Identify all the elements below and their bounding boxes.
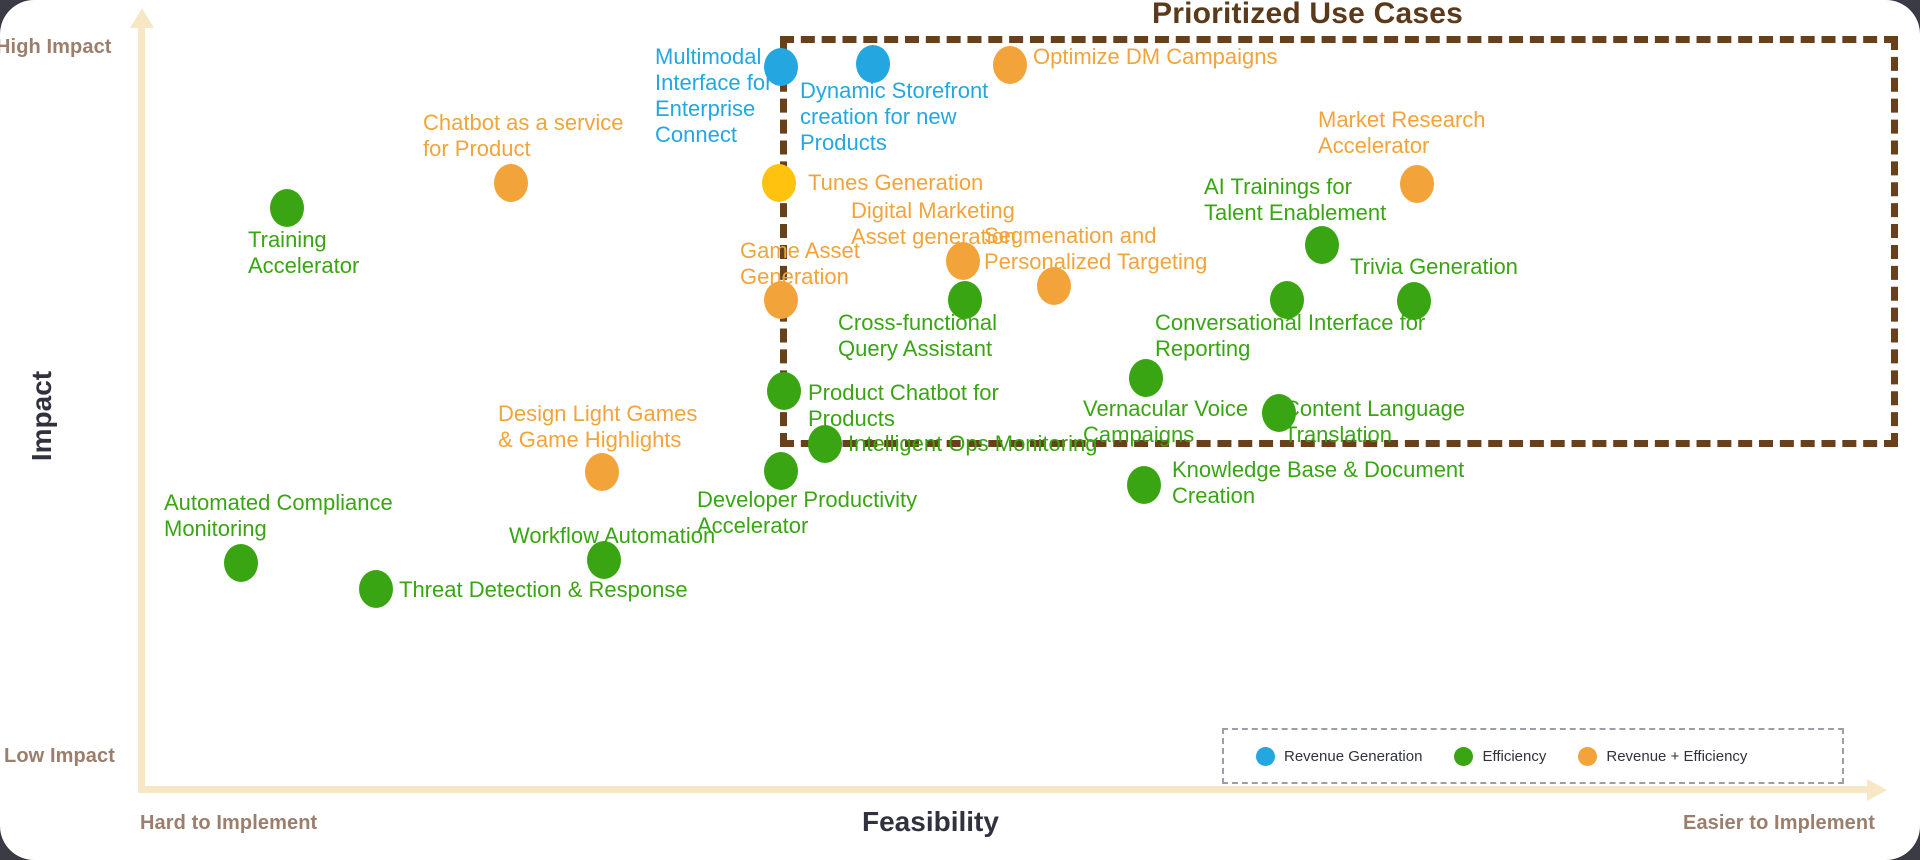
y-axis-low-label: Low Impact	[4, 745, 115, 768]
data-point-label: Dynamic Storefront creation for new Prod…	[800, 78, 988, 156]
legend-swatch-icon	[1454, 747, 1473, 766]
data-point-marker[interactable]	[1400, 165, 1434, 203]
data-point-label: Multimodal Interface for Enterprise Conn…	[655, 44, 772, 148]
data-point-marker[interactable]	[1305, 226, 1339, 264]
x-axis-low-label: Hard to Implement	[140, 812, 317, 835]
data-point-label: Segmenation and Personalized Targeting	[984, 223, 1207, 275]
legend-item[interactable]: Revenue Generation	[1256, 747, 1422, 766]
data-point-label: Tunes Generation	[808, 170, 983, 196]
data-point-label: Game Asset Generation	[740, 238, 860, 290]
data-point-label: Trivia Generation	[1350, 254, 1518, 280]
chart-title: Prioritized Use Cases	[1152, 0, 1463, 31]
data-point-label: Threat Detection & Response	[399, 577, 688, 603]
data-point-label: Intelligent Ops Monitoring	[848, 431, 1097, 457]
scatter-plot: High Impact Low Impact Hard to Implement…	[0, 0, 1920, 860]
y-axis-arrow-icon	[130, 8, 154, 28]
data-point-label: Cross-functional Query Assistant	[838, 310, 997, 362]
data-point-label: Automated Compliance Monitoring	[164, 490, 393, 542]
data-point-label: Market Research Accelerator	[1318, 107, 1486, 159]
data-point-marker[interactable]	[764, 452, 798, 490]
data-point-label: Workflow Automation	[509, 523, 715, 549]
x-axis-high-label: Easier to Implement	[1683, 812, 1875, 835]
y-axis-high-label: High Impact	[0, 36, 112, 59]
data-point-marker[interactable]	[494, 164, 528, 202]
data-point-label: Developer Productivity Accelerator	[697, 487, 917, 539]
legend: Revenue GenerationEfficiencyRevenue + Ef…	[1222, 728, 1844, 784]
legend-label: Revenue Generation	[1284, 748, 1422, 765]
data-point-label: Design Light Games & Game Highlights	[498, 401, 697, 453]
data-point-label: Training Accelerator	[248, 227, 359, 279]
legend-label: Efficiency	[1482, 748, 1546, 765]
legend-item[interactable]: Revenue + Efficiency	[1578, 747, 1747, 766]
x-axis-title: Feasibility	[862, 806, 999, 838]
x-axis-arrow-icon	[1867, 779, 1887, 801]
data-point-marker[interactable]	[767, 372, 801, 410]
data-point-marker[interactable]	[585, 453, 619, 491]
data-point-label: Chatbot as a service for Product	[423, 110, 624, 162]
legend-item[interactable]: Efficiency	[1454, 747, 1546, 766]
data-point-label: AI Trainings for Talent Enablement	[1204, 174, 1386, 226]
data-point-label: Conversational Interface for Reporting	[1155, 310, 1425, 362]
legend-label: Revenue + Efficiency	[1606, 748, 1747, 765]
data-point-label: Optimize DM Campaigns	[1033, 44, 1278, 70]
data-point-marker[interactable]	[270, 189, 304, 227]
data-point-marker[interactable]	[762, 164, 796, 202]
slide-canvas: High Impact Low Impact Hard to Implement…	[0, 0, 1920, 860]
data-point-label: Vernacular Voice Campaigns	[1083, 396, 1248, 448]
x-axis-line	[138, 786, 1875, 793]
data-point-marker[interactable]	[993, 46, 1027, 84]
y-axis-title: Impact	[26, 371, 58, 461]
data-point-label: Product Chatbot for Products	[808, 380, 999, 432]
data-point-marker[interactable]	[808, 425, 842, 463]
data-point-marker[interactable]	[1127, 466, 1161, 504]
data-point-marker[interactable]	[1129, 359, 1163, 397]
data-point-marker[interactable]	[359, 570, 393, 608]
legend-swatch-icon	[1578, 747, 1597, 766]
data-point-marker[interactable]	[224, 544, 258, 582]
data-point-label: Knowledge Base & Document Creation	[1172, 457, 1464, 509]
y-axis-line	[138, 24, 145, 792]
data-point-label: Content Language Translation	[1284, 396, 1465, 448]
legend-swatch-icon	[1256, 747, 1275, 766]
